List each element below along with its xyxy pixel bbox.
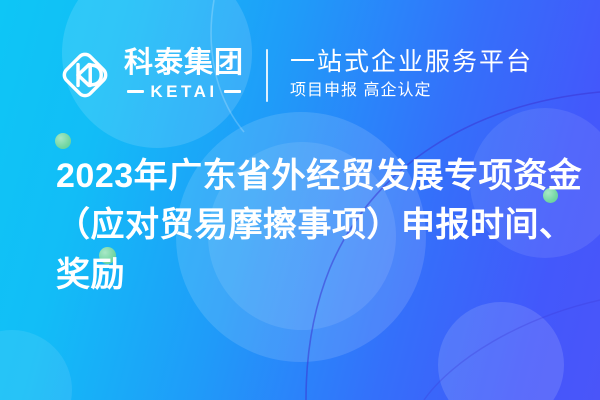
brand-wordmark: 科泰集团 KETAI: [124, 48, 244, 101]
header-divider: [266, 49, 268, 102]
banner-header: 科泰集团 KETAI 一站式企业服务平台 项目申报 高企认定: [0, 36, 600, 114]
decorative-circle-bottom-right: [438, 302, 564, 400]
ketai-diamond-kp-monogram-icon: [56, 46, 114, 104]
brand-name-en-row: KETAI: [124, 82, 244, 102]
promo-banner: 科泰集团 KETAI 一站式企业服务平台 项目申报 高企认定 2023年广东省外…: [0, 0, 600, 400]
brand-logo: 科泰集团 KETAI: [56, 46, 244, 104]
decorative-circle-bottom-left: [0, 330, 72, 400]
logo-rule-left: [127, 90, 144, 93]
decorative-green-dot: [55, 133, 71, 149]
header-taglines: 一站式企业服务平台 项目申报 高企认定: [290, 48, 533, 102]
logo-rule-right: [224, 90, 241, 93]
header-subtagline: 项目申报 高企认定: [290, 81, 533, 102]
brand-name-cn: 科泰集团: [124, 48, 244, 79]
brand-name-en: KETAI: [144, 82, 223, 102]
header-tagline: 一站式企业服务平台: [290, 48, 533, 77]
page-title: 2023年广东省外经贸发展专项资金（应对贸易摩擦事项）申报时间、奖励: [56, 152, 584, 300]
